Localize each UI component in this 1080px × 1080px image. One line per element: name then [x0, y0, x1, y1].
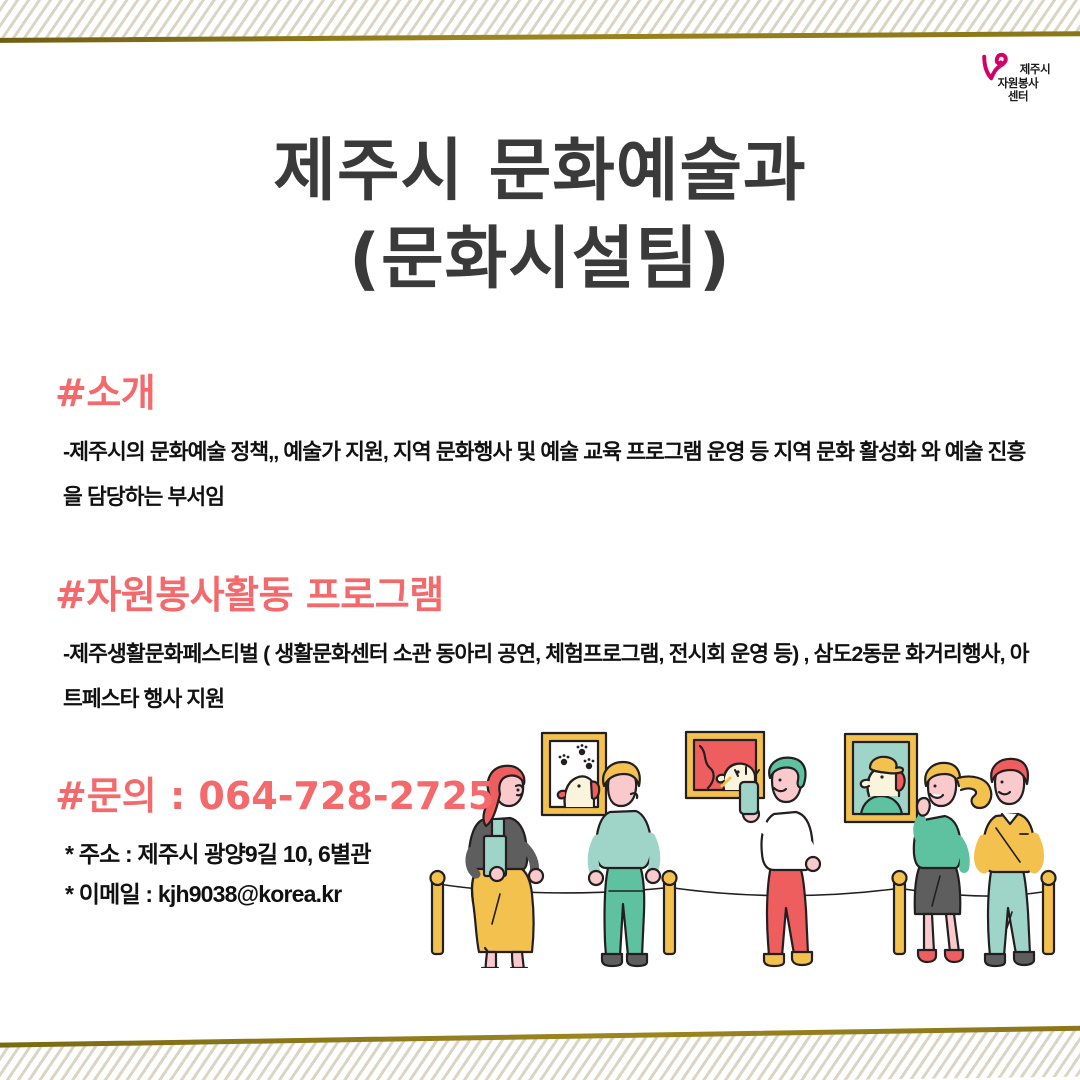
section-volunteer-program: #자원봉사활동 프로그램 -제주생활문화페스티벌 ( 생활문화센터 소관 동아리…: [55, 572, 1040, 722]
section-introduction: #소개 -제주시의 문화예술 정책,, 예술가 지원, 지역 문화행사 및 예술…: [55, 370, 1040, 520]
jeju-volunteer-center-logo: 제주시 자원봉사 센터: [972, 52, 1064, 118]
poster-card: 제주시 자원봉사 센터 제주시 문화예술과 (문화시설팀) #소개 -제주시의 …: [0, 0, 1080, 1080]
section-introduction-body: -제주시의 문화예술 정책,, 예술가 지원, 지역 문화행사 및 예술 교육 …: [55, 430, 1040, 520]
logo-line-2: 자원봉사: [972, 78, 1064, 92]
top-decorative-border: [0, 0, 1080, 60]
title-line-2: (문화시설팀): [0, 216, 1080, 304]
logo-text: 제주시 자원봉사 센터: [972, 64, 1064, 105]
picture-frame-3: [845, 734, 917, 822]
section-introduction-heading: #소개: [55, 370, 1040, 416]
contact-email: * 이메일 : kjh9038@korea.kr: [55, 874, 575, 914]
contact-heading: #문의 : 064-728-2725: [55, 772, 575, 820]
contact-address: * 주소 : 제주시 광양9길 10, 6별관: [55, 834, 575, 874]
title-line-1: 제주시 문화예술과: [0, 128, 1080, 216]
page-title: 제주시 문화예술과 (문화시설팀): [0, 128, 1080, 304]
bottom-decorative-border: [0, 1020, 1080, 1080]
contact-block: #문의 : 064-728-2725 * 주소 : 제주시 광양9길 10, 6…: [55, 772, 575, 914]
logo-line-1: 제주시: [972, 64, 1064, 78]
section-volunteer-program-heading: #자원봉사활동 프로그램: [55, 572, 1040, 618]
visitor-man-taking-photo: [735, 758, 820, 966]
logo-line-3: 센터: [972, 91, 1064, 105]
section-volunteer-program-body: -제주생활문화페스티벌 ( 생활문화센터 소관 동아리 공연, 체험프로그램, …: [55, 632, 1040, 722]
